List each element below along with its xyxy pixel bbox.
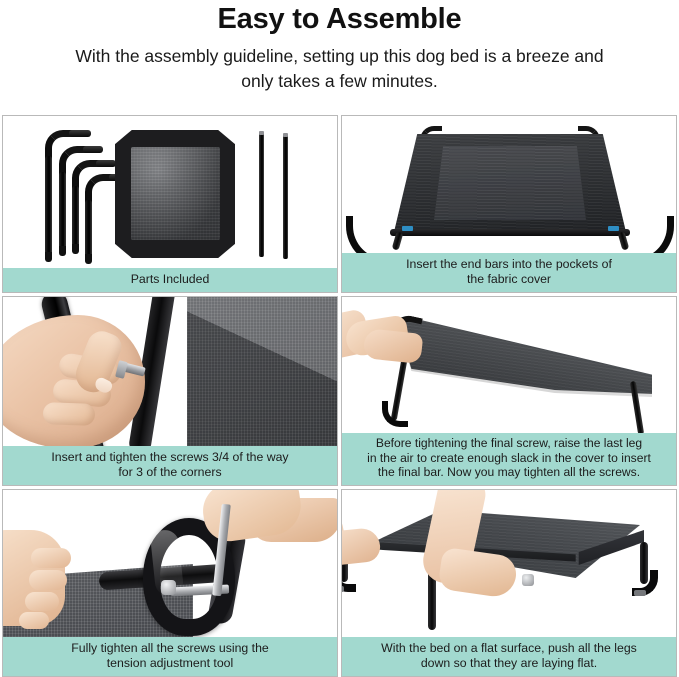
end-bar-2-cap <box>283 133 288 137</box>
end-bar-1 <box>259 133 264 257</box>
mesh-fabric-cover <box>115 130 235 258</box>
panel-1-caption: Parts Included <box>3 268 337 292</box>
leg-3-foot <box>72 244 79 254</box>
mesh-fabric-fold-shading <box>187 297 337 449</box>
straight-end-bars-group <box>251 131 309 257</box>
panel-5-caption: Fully tighten all the screws using the t… <box>3 637 337 676</box>
leg-2-foot <box>59 246 66 256</box>
cover-mesh-shading <box>131 147 220 240</box>
page-subtitle: With the assembly guideline, setting up … <box>70 44 610 94</box>
caption-line: Insert and tighten the screws 3/4 of the… <box>9 450 331 465</box>
panel-insert-tighten-screws: Insert and tighten the screws 3/4 of the… <box>2 296 338 486</box>
tension-screw <box>161 580 176 595</box>
panel-grid: Parts Included <box>2 115 677 677</box>
caption-line: the fabric cover <box>348 272 670 287</box>
finger-left-3 <box>25 592 59 611</box>
caption-line: the final bar. Now you may tighten all t… <box>348 465 670 480</box>
panel-6-caption: With the bed on a flat surface, push all… <box>342 637 676 676</box>
blue-tab-right <box>608 226 619 231</box>
panel-parts-included: Parts Included <box>2 115 338 293</box>
leg-2-shaft <box>59 172 66 250</box>
end-bar-2 <box>283 135 288 259</box>
panel-3-caption: Insert and tighten the screws 3/4 of the… <box>3 446 337 485</box>
caption-line: down so that they are laying flat. <box>348 656 670 671</box>
finger-left-2 <box>29 570 67 590</box>
foot-back-right <box>634 590 646 596</box>
front-rail-bar <box>390 229 630 236</box>
caption-line: Fully tighten all the screws using the <box>9 641 331 656</box>
leg-3-top <box>96 160 116 167</box>
hand-left-holding-edge <box>342 527 382 568</box>
finger-left-1 <box>31 548 71 568</box>
leg-1-top <box>69 130 91 137</box>
leg-3-shaft <box>72 186 79 248</box>
panel-push-legs-flat: With the bed on a flat surface, push all… <box>341 489 677 677</box>
finger-ring <box>43 402 96 426</box>
caption-line: With the bed on a flat surface, push all… <box>348 641 670 656</box>
caption-line: in the air to create enough slack in the… <box>348 451 670 466</box>
leg-back-left-bend-icon <box>342 566 356 592</box>
caption-line: Parts Included <box>9 272 331 287</box>
corner-screw <box>522 574 534 586</box>
panel-insert-end-bars: Insert the end bars into the pockets of … <box>341 115 677 293</box>
leg-left-bend-icon <box>382 401 408 427</box>
leg-1-foot <box>45 252 52 262</box>
cover-mesh-panel <box>131 147 220 240</box>
leg-2-top <box>83 146 103 153</box>
panel-1-illustration <box>3 116 337 292</box>
leg-1-shaft <box>45 156 52 256</box>
blue-tab-left <box>402 226 413 231</box>
leg-4-foot <box>85 254 92 264</box>
fabric-cover-mesh-inner <box>434 146 586 220</box>
panel-2-caption: Insert the end bars into the pockets of … <box>342 253 676 292</box>
caption-line: tension adjustment tool <box>9 656 331 671</box>
assembly-instruction-graphic: Easy to Assemble With the assembly guide… <box>0 0 679 674</box>
hand-lower <box>363 328 424 364</box>
header: Easy to Assemble With the assembly guide… <box>0 0 679 94</box>
end-bar-1-cap <box>259 131 264 135</box>
leg-4-shaft <box>85 200 92 258</box>
caption-line: for 3 of the corners <box>9 465 331 480</box>
panel-raise-last-leg: Before tightening the final screw, raise… <box>341 296 677 486</box>
page-title: Easy to Assemble <box>0 2 679 36</box>
caption-line: Before tightening the final screw, raise… <box>348 436 670 451</box>
panel-4-caption: Before tightening the final screw, raise… <box>342 433 676 485</box>
caption-line: Insert the end bars into the pockets of <box>348 257 670 272</box>
finger-left-4 <box>19 612 49 629</box>
fabric-cover-slack-shading <box>396 319 652 419</box>
panel-fully-tighten-screws: Fully tighten all the screws using the t… <box>2 489 338 677</box>
